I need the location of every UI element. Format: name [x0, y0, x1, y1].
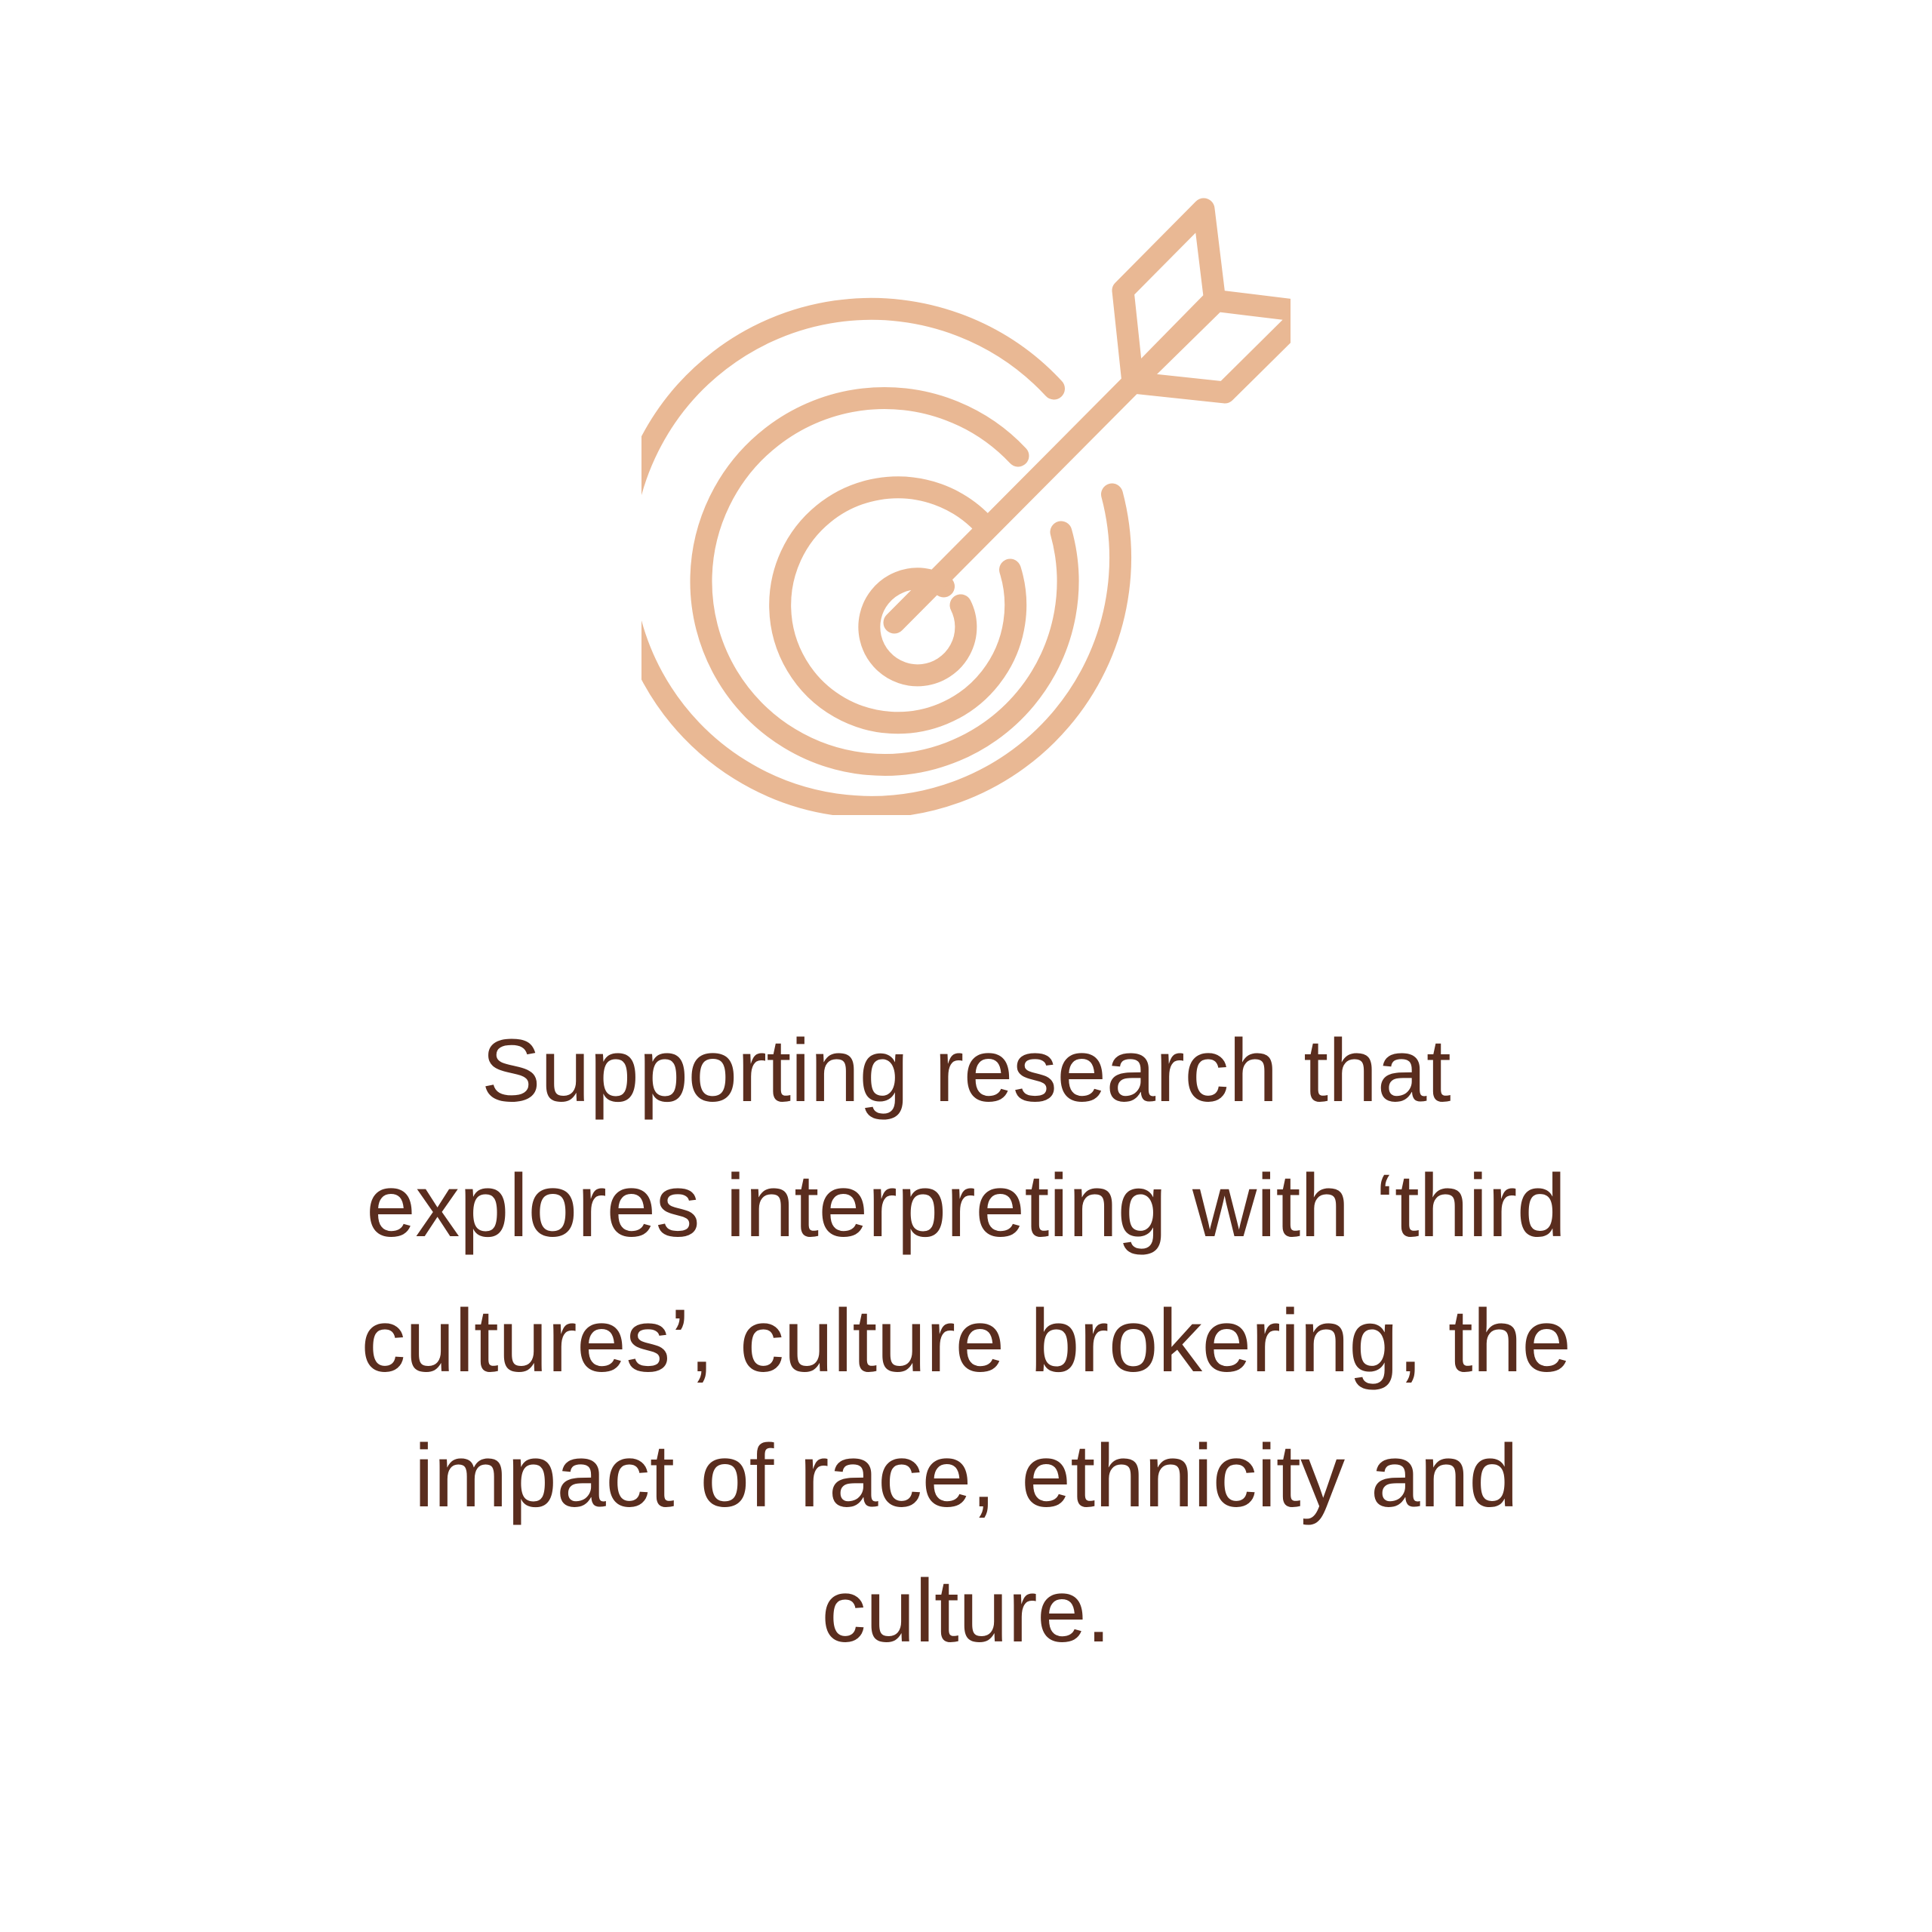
- slide-canvas: Supporting research that explores interp…: [0, 0, 1932, 1932]
- caption-line-3: cultures’, culture brokering, the: [226, 1274, 1706, 1409]
- caption-line-4: impact of race, ethnicity and: [226, 1409, 1706, 1544]
- caption-line-5: culture.: [226, 1544, 1706, 1679]
- target-with-arrow-icon: [0, 189, 1932, 815]
- caption-text-block: Supporting research that explores interp…: [226, 1004, 1706, 1679]
- target-with-arrow-svg: [641, 189, 1291, 815]
- caption-line-1: Supporting research that: [226, 1004, 1706, 1139]
- caption-line-2: explores interpreting with ‘third: [226, 1139, 1706, 1274]
- arrow-fletch-lower: [1133, 300, 1291, 392]
